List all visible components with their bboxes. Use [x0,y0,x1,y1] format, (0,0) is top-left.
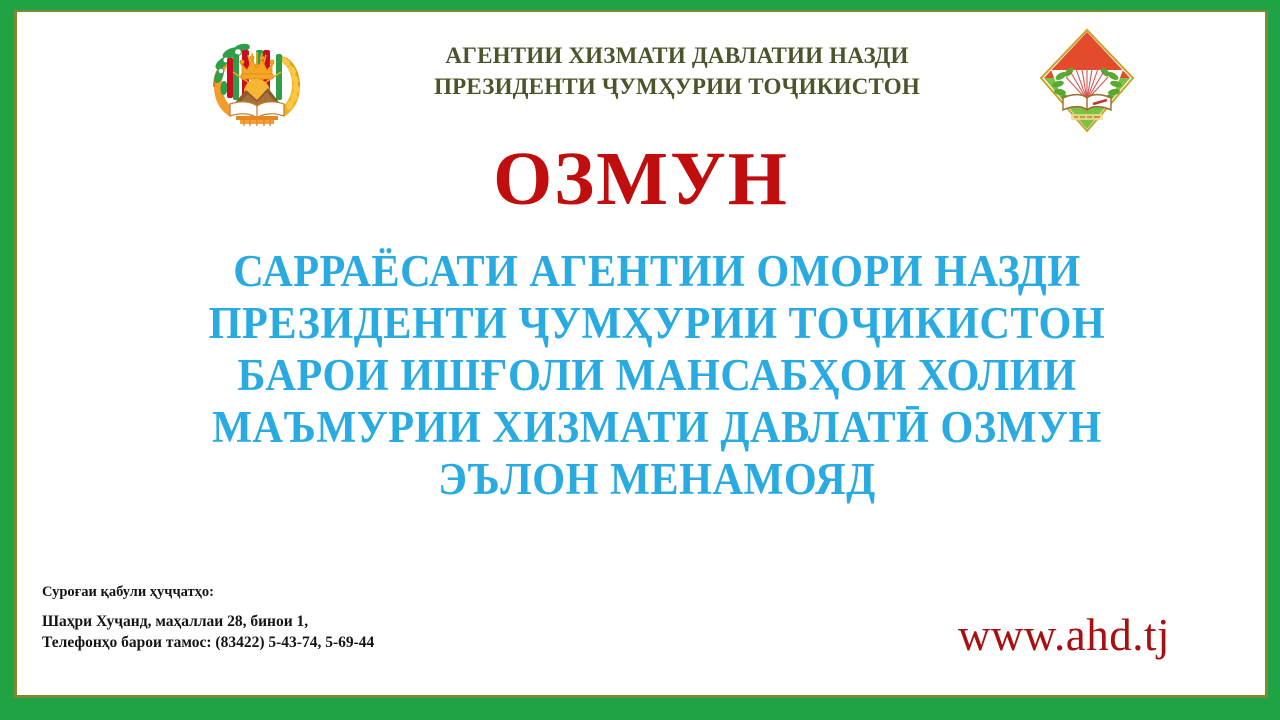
national-emblem-of-tajikistan-icon [202,30,312,130]
organization-title-line-1: АГЕНТИИ ХИЗМАТИ ДАВЛАТИИ НАЗДИ [347,40,1007,71]
announcement-line: МАЪМУРИИ ХИЗМАТИ ДАВЛАТӢ ОЗМУН [140,401,1174,453]
poster-header: АГЕНТИИ ХИЗМАТИ ДАВЛАТИИ НАЗДИ ПРЕЗИДЕНТ… [17,20,1265,130]
address-street-line: Шаҳри Хуҷанд, маҳаллаи 28, бинои 1, [42,611,374,632]
announcement-line: САРРАЁСАТИ АГЕНТИИ ОМОРИ НАЗДИ [140,245,1174,297]
address-heading: Суроғаи қабули ҳуҷҷатҳо: [42,583,374,602]
poster-white-field: АГЕНТИИ ХИЗМАТИ ДАВЛАТИИ НАЗДИ ПРЕЗИДЕНТ… [17,12,1265,695]
page-title: ОЗМУН [17,137,1265,221]
announcement-line: БАРОИ ИШҒОЛИ МАНСАБҲОИ ХОЛИИ [140,349,1174,401]
announcement-line: ПРЕЗИДЕНТИ ҶУМҲУРИИ ТОҶИКИСТОН [140,297,1174,349]
announcement-poster: АГЕНТИИ ХИЗМАТИ ДАВЛАТИИ НАЗДИ ПРЕЗИДЕНТ… [0,0,1280,720]
institute-diamond-badge-icon [1037,28,1137,133]
organization-title-line-2: ПРЕЗИДЕНТИ ҶУМҲУРИИ ТОҶИКИСТОН [347,71,1007,102]
address-phone-line: Телефонҳо барои тамос: (83422) 5-43-74, … [42,632,374,653]
announcement-body: САРРАЁСАТИ АГЕНТИИ ОМОРИ НАЗДИ ПРЕЗИДЕНТ… [107,245,1207,505]
website-link[interactable]: www.ahd.tj [958,610,1170,660]
contact-address-block: Суроғаи қабули ҳуҷҷатҳо: Шаҳри Хуҷанд, м… [42,583,374,653]
organization-title: АГЕНТИИ ХИЗМАТИ ДАВЛАТИИ НАЗДИ ПРЕЗИДЕНТ… [347,40,1007,102]
announcement-line: ЭЪЛОН МЕНАМОЯД [140,453,1174,505]
